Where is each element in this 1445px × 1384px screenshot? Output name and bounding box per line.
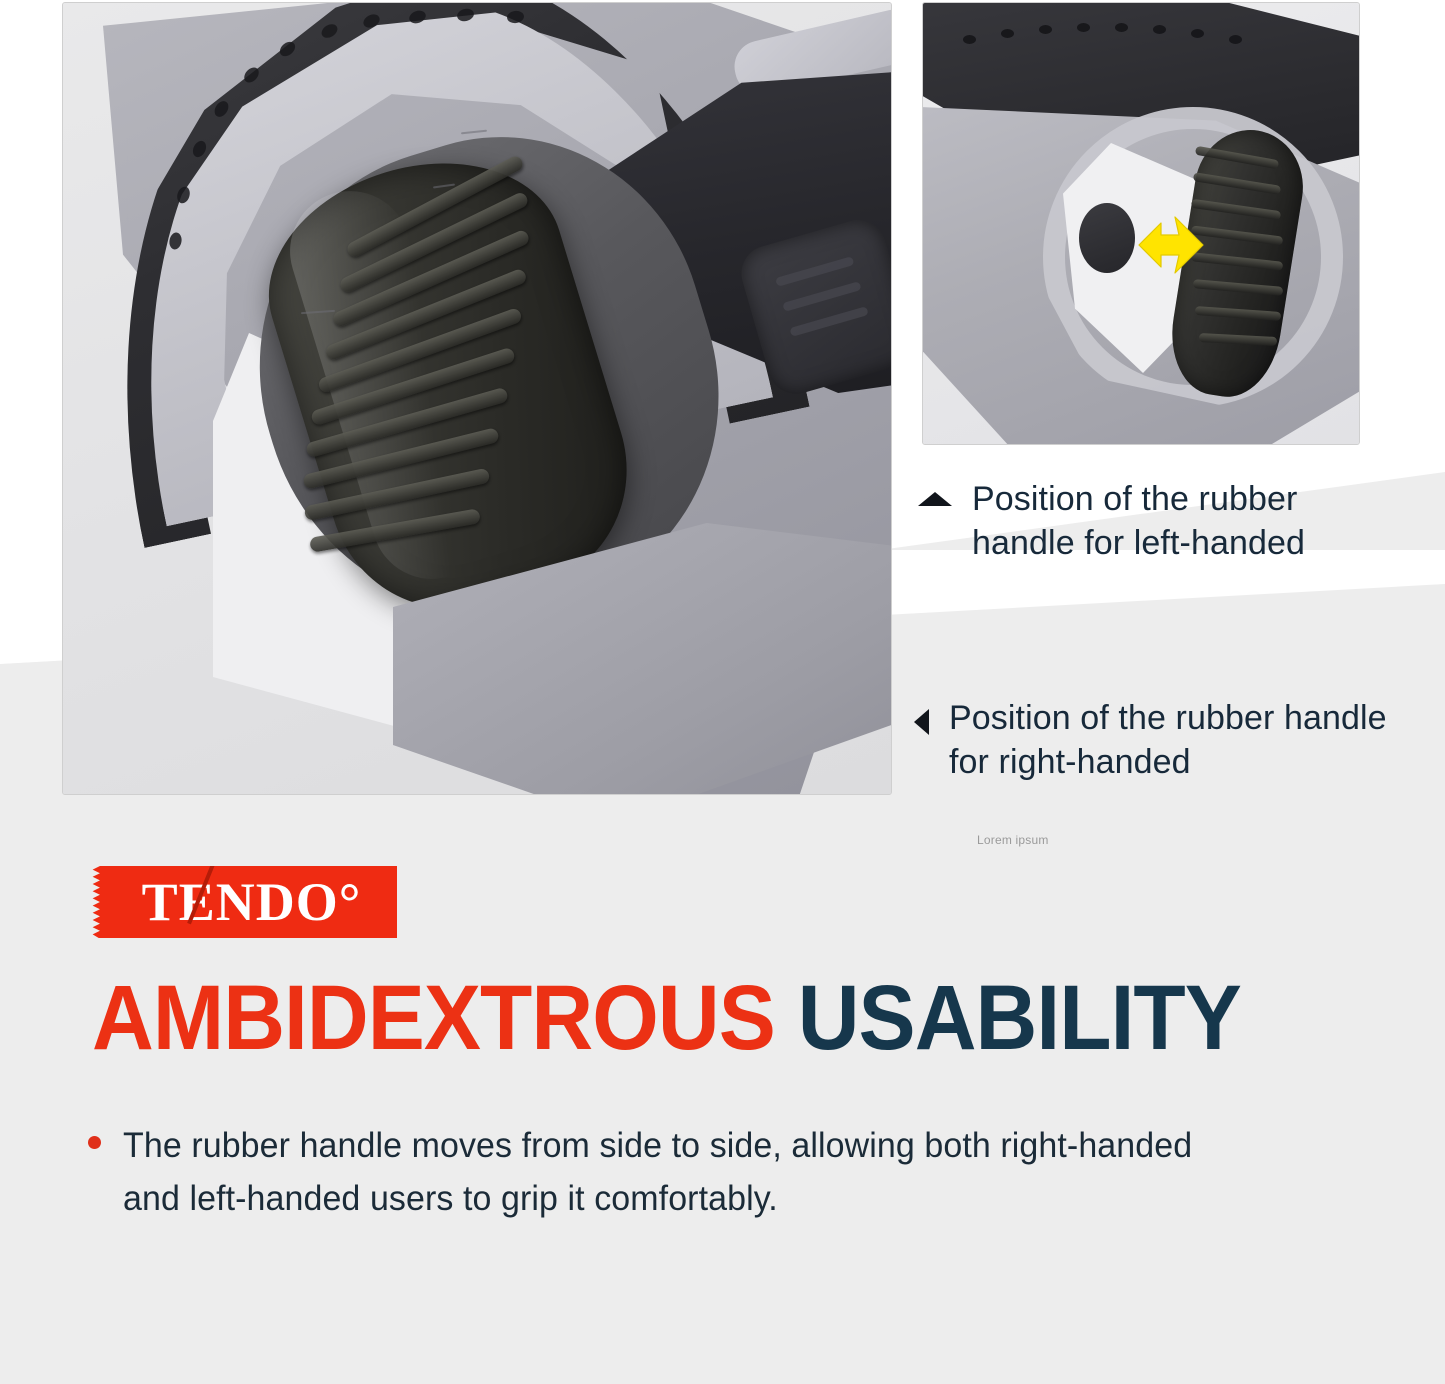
feature-bullet-item: The rubber handle moves from side to sid… xyxy=(88,1120,1268,1225)
triangle-left-icon xyxy=(914,709,929,735)
inset-tread-bump xyxy=(1229,35,1242,44)
triangle-up-icon xyxy=(918,492,952,506)
inset-render xyxy=(923,3,1359,444)
feature-bullet-text: The rubber handle moves from side to sid… xyxy=(123,1120,1234,1225)
callout-right-handed: Position of the rubber handle for right-… xyxy=(914,697,1445,784)
brand-logo: TENDO° xyxy=(92,866,397,938)
main-render xyxy=(63,3,891,794)
page-title-part-navy: USABILITY xyxy=(775,967,1241,1069)
page-title: AMBIDEXTROUS USABILITY xyxy=(92,972,1241,1064)
callout-left-handed-label: Position of the rubber handle for left-h… xyxy=(972,478,1305,565)
inset-pivot-knob xyxy=(1079,203,1135,273)
bullet-dot-icon xyxy=(88,1136,101,1149)
inset-tread-bump xyxy=(1039,25,1052,34)
inset-tread-bump xyxy=(1077,23,1090,32)
page-canvas: Position of the rubber handle for left-h… xyxy=(0,0,1445,1384)
inset-tread-bump xyxy=(1153,25,1166,34)
inset-tread-bump xyxy=(963,35,976,44)
footnote-label: Lorem ipsum xyxy=(977,833,1049,847)
inset-tread-bump xyxy=(1115,23,1128,32)
callout-right-handed-label: Position of the rubber handle for right-… xyxy=(949,697,1387,784)
callout-left-handed: Position of the rubber handle for left-h… xyxy=(918,478,1445,565)
yellow-direction-arrow-icon xyxy=(1135,215,1207,277)
brand-logo-text: TENDO° xyxy=(128,875,362,929)
inset-tread-bump xyxy=(1001,29,1014,38)
main-product-image xyxy=(62,2,892,795)
page-title-part-red: AMBIDEXTROUS xyxy=(92,967,775,1069)
inset-product-image xyxy=(922,2,1360,445)
inset-tread-bump xyxy=(1191,29,1204,38)
